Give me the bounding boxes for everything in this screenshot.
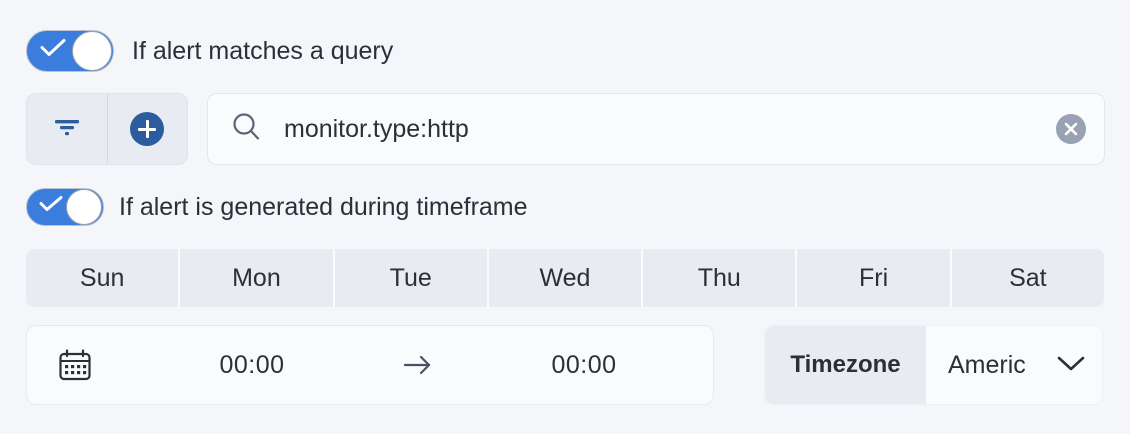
timeframe-condition-row: If alert is generated during timeframe xyxy=(26,188,528,226)
time-range-end[interactable]: 00:00 xyxy=(455,351,713,380)
timezone-label: Timezone xyxy=(765,326,926,404)
search-icon xyxy=(230,111,262,148)
check-icon xyxy=(39,196,63,219)
time-range-start[interactable]: 00:00 xyxy=(123,351,381,380)
toggle-knob[interactable] xyxy=(72,31,112,71)
day-button-sat[interactable]: Sat xyxy=(950,249,1104,307)
day-button-mon[interactable]: Mon xyxy=(178,249,332,307)
timezone-dropdown[interactable]: Americ xyxy=(926,326,1102,404)
query-input-row: monitor.type:http xyxy=(26,93,1105,165)
arrow-right-icon xyxy=(381,353,455,377)
day-of-week-selector: Sun Mon Tue Wed Thu Fri Sat xyxy=(26,249,1104,307)
day-button-sun[interactable]: Sun xyxy=(26,249,178,307)
query-action-buttons xyxy=(26,93,188,165)
chevron-down-icon xyxy=(1054,352,1088,379)
add-query-button[interactable] xyxy=(107,94,188,164)
timeframe-condition-toggle[interactable] xyxy=(26,188,104,226)
query-search-value: monitor.type:http xyxy=(284,115,1056,144)
timezone-selector: Timezone Americ xyxy=(764,325,1103,405)
toggle-knob[interactable] xyxy=(66,189,102,225)
query-condition-row: If alert matches a query xyxy=(26,30,393,72)
filter-icon xyxy=(52,116,82,143)
day-button-thu[interactable]: Thu xyxy=(641,249,795,307)
timezone-value: Americ xyxy=(948,351,1050,380)
day-button-tue[interactable]: Tue xyxy=(333,249,487,307)
time-range-picker[interactable]: 00:00 00:00 xyxy=(26,325,714,405)
day-button-fri[interactable]: Fri xyxy=(795,249,949,307)
close-circle-icon[interactable] xyxy=(1056,114,1086,144)
check-icon xyxy=(40,39,66,64)
calendar-icon xyxy=(27,347,123,383)
timeframe-condition-label: If alert is generated during timeframe xyxy=(119,193,528,222)
query-condition-label: If alert matches a query xyxy=(132,37,393,66)
filter-button[interactable] xyxy=(27,94,107,164)
query-condition-toggle[interactable] xyxy=(26,30,114,72)
query-search-field[interactable]: monitor.type:http xyxy=(207,93,1105,165)
plus-circle-icon xyxy=(130,112,164,146)
day-button-wed[interactable]: Wed xyxy=(487,249,641,307)
